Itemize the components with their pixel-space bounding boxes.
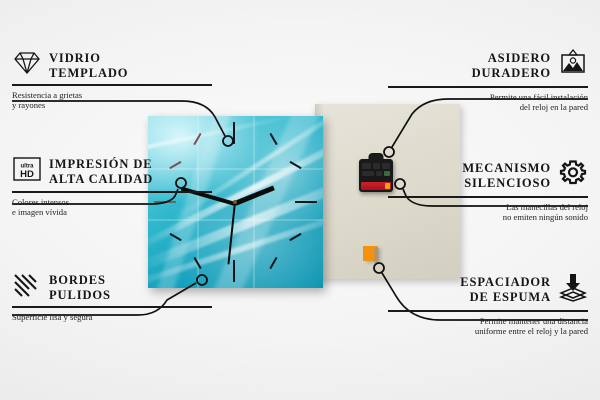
divider — [12, 306, 212, 308]
svg-text:HD: HD — [20, 169, 34, 180]
polished-edges-icon — [12, 272, 42, 303]
ultra-hd-icon: ultra HD — [12, 155, 42, 188]
feature-header: ESPACIADOR DE ESPUMA — [388, 272, 588, 307]
desc-line-2: e imagen vívida — [12, 207, 212, 218]
feature-title: ASIDERO DURADERO — [472, 51, 551, 80]
feature-description: Colores intensos e imagen vívida — [12, 197, 212, 218]
desc-line-1: Resistencia a grietas — [12, 90, 212, 101]
title-line-1: ASIDERO — [472, 51, 551, 66]
feature-description: Resistencia a grietas y rayones — [12, 90, 212, 111]
gear-icon — [558, 158, 588, 193]
diamond-icon — [12, 50, 42, 81]
title-line-1: MECANISMO — [462, 161, 551, 176]
divider — [12, 84, 212, 86]
title-line-2: PULIDOS — [49, 288, 111, 303]
feature-description: Las manecillas del reloj no emiten ningú… — [388, 202, 588, 223]
desc-line-2: y rayones — [12, 100, 212, 111]
feature-header: BORDES PULIDOS — [12, 272, 212, 303]
feature-title: ESPACIADOR DE ESPUMA — [460, 275, 551, 304]
title-line-1: BORDES — [49, 273, 111, 288]
title-line-2: DE ESPUMA — [460, 290, 551, 305]
foam-spacer-icon — [558, 272, 588, 307]
feature-impresion-alta-calidad: ultra HD IMPRESIÓN DE ALTA CALIDAD Color… — [12, 155, 212, 218]
title-line-1: ESPACIADOR — [460, 275, 551, 290]
picture-hanger-icon — [558, 48, 588, 83]
feature-bordes-pulidos: BORDES PULIDOS Superficie lisa y segura — [12, 272, 212, 322]
desc-line-2: del reloj en la pared — [388, 102, 588, 113]
desc-line-1: Las manecillas del reloj — [388, 202, 588, 213]
feature-description: Superficie lisa y segura — [12, 312, 212, 323]
feature-title: IMPRESIÓN DE ALTA CALIDAD — [49, 157, 153, 186]
feature-title: VIDRIO TEMPLADO — [49, 51, 128, 80]
feature-description: Permite una fácil instalación del reloj … — [388, 92, 588, 113]
connector-node-4 — [384, 147, 394, 157]
feature-header: ASIDERO DURADERO — [388, 48, 588, 83]
title-line-2: ALTA CALIDAD — [49, 172, 153, 187]
title-line-1: IMPRESIÓN DE — [49, 157, 153, 172]
divider — [12, 191, 212, 193]
divider — [388, 86, 588, 88]
desc-line-2: no emiten ningún sonido — [388, 212, 588, 223]
title-line-2: DURADERO — [472, 66, 551, 81]
feature-espaciador-espuma: ESPACIADOR DE ESPUMA Permite mantener un… — [388, 272, 588, 337]
feature-title: BORDES PULIDOS — [49, 273, 111, 302]
desc-line-1: Permite una fácil instalación — [388, 92, 588, 103]
feature-asidero-duradero: ASIDERO DURADERO Permite una fácil insta… — [388, 48, 588, 113]
title-line-1: VIDRIO — [49, 51, 128, 66]
feature-vidrio-templado: VIDRIO TEMPLADO Resistencia a grietas y … — [12, 50, 212, 111]
desc-line-1: Superficie lisa y segura — [12, 312, 212, 323]
desc-line-1: Permite mantener una distancia — [388, 316, 588, 327]
connector-node-6 — [374, 263, 384, 273]
feature-description: Permite mantener una distancia uniforme … — [388, 316, 588, 337]
title-line-2: TEMPLADO — [49, 66, 128, 81]
title-line-2: SILENCIOSO — [462, 176, 551, 191]
connector-node-1 — [223, 136, 233, 146]
feature-mecanismo-silencioso: MECANISMO SILENCIOSO Las manecillas del … — [388, 158, 588, 223]
feature-header: MECANISMO SILENCIOSO — [388, 158, 588, 193]
infographic-canvas: VIDRIO TEMPLADO Resistencia a grietas y … — [0, 0, 600, 400]
divider — [388, 310, 588, 312]
desc-line-1: Colores intensos — [12, 197, 212, 208]
desc-line-2: uniforme entre el reloj y la pared — [388, 326, 588, 337]
feature-title: MECANISMO SILENCIOSO — [462, 161, 551, 190]
feature-header: VIDRIO TEMPLADO — [12, 50, 212, 81]
divider — [388, 196, 588, 198]
feature-header: ultra HD IMPRESIÓN DE ALTA CALIDAD — [12, 155, 212, 188]
